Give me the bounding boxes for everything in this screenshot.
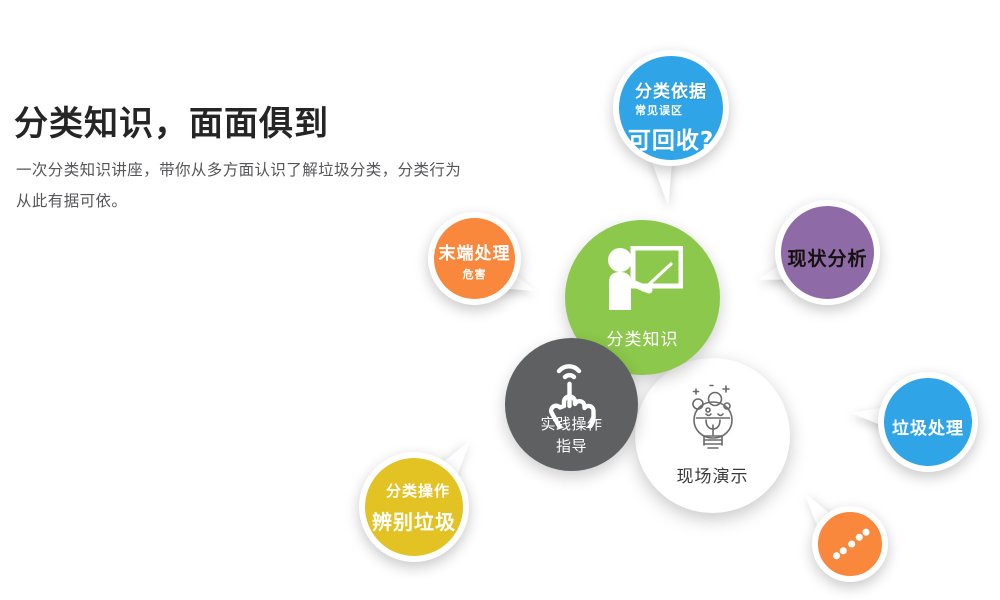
bubble-more-dots[interactable] [812, 506, 888, 582]
bubble-sorting-operation-line1: 分类操作 [365, 480, 463, 501]
teacher-presenting-icon [603, 246, 683, 312]
bubble-terminal-treatment[interactable]: 末端处理 危害 [428, 212, 521, 305]
poster-canvas: 分类知识，面面俱到 一次分类知识讲座，带你从多方面认识了解垃圾分类，分类行为从此… [0, 0, 1000, 600]
lightbulb-idea-icon [682, 380, 744, 450]
bubble-terminal-treatment-line1: 末端处理 [434, 239, 515, 264]
bubble-garbage-disposal[interactable]: 垃圾处理 [878, 372, 978, 472]
bubble-classification-basis[interactable]: 分类依据 常见误区 可回收? [613, 50, 729, 166]
page-title: 分类知识，面面俱到 [14, 96, 329, 145]
bubble-status-analysis-line1: 现状分析 [781, 244, 874, 271]
node-practice-guidance[interactable]: 实践操作 指导 [505, 338, 638, 471]
node-practice-guidance-label-line2: 指导 [556, 437, 587, 455]
bubble-sorting-operation-line2: 辨别垃圾 [365, 506, 463, 535]
bubble-sorting-operation[interactable]: 分类操作 辨别垃圾 [359, 452, 469, 562]
bubble-classification-basis-line3: 可回收? [619, 121, 723, 155]
bubble-classification-basis-line2: 常见误区 [619, 102, 723, 118]
bubble-garbage-disposal-line1: 垃圾处理 [884, 414, 972, 439]
page-subtitle: 一次分类知识讲座，带你从多方面认识了解垃圾分类，分类行为从此有据可依。 [16, 155, 466, 217]
node-live-demo-label: 现场演示 [635, 462, 790, 487]
node-live-demo[interactable]: 现场演示 [635, 358, 790, 513]
bubble-status-analysis[interactable]: 现状分析 [775, 200, 880, 305]
node-practice-guidance-label: 实践操作 指导 [505, 413, 638, 457]
diagonal-dots-icon [818, 512, 882, 576]
node-practice-guidance-label-line1: 实践操作 [540, 415, 602, 433]
bubble-classification-basis-line1: 分类依据 [619, 77, 723, 102]
bubble-terminal-treatment-line2: 危害 [434, 266, 515, 282]
